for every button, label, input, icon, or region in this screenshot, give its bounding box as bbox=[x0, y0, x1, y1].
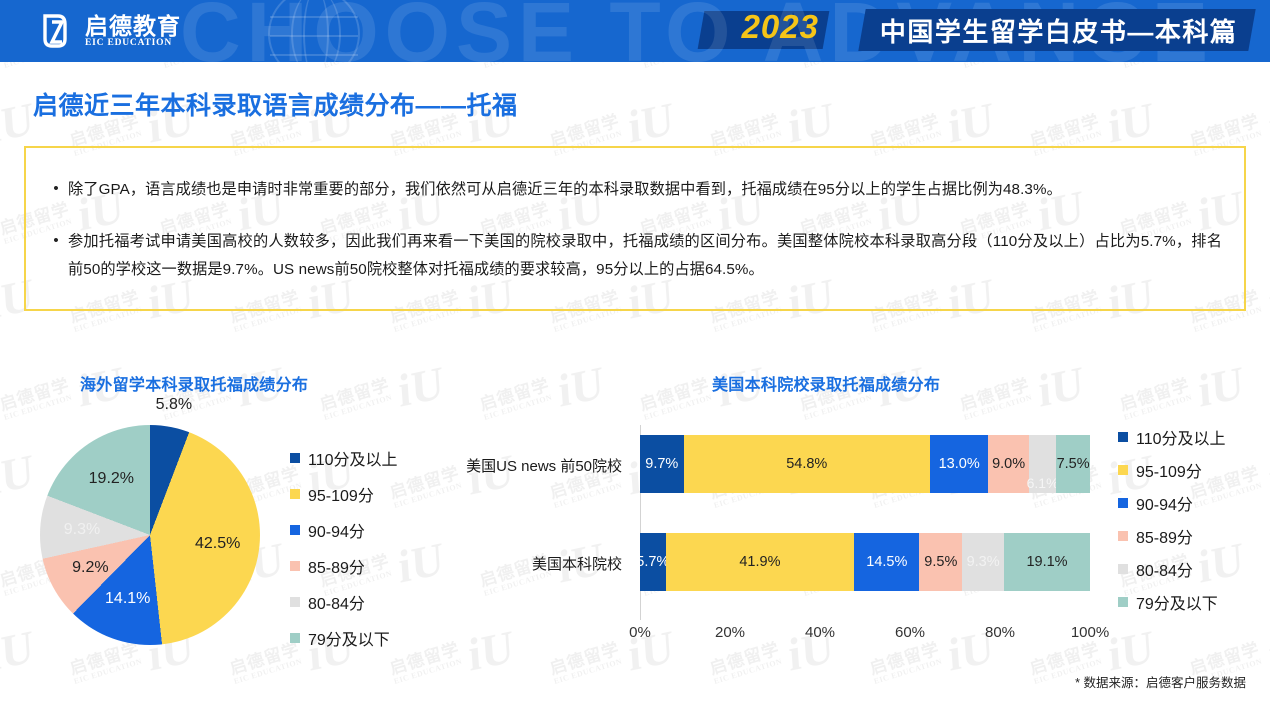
bar-segment[interactable]: 7.5% bbox=[1056, 435, 1090, 493]
legend-label: 80-84分 bbox=[308, 590, 365, 614]
x-axis-tick-label: 20% bbox=[715, 624, 745, 641]
watermark-logo-icon: iU bbox=[1197, 355, 1246, 418]
bullet-item: •参加托福考试申请美国高校的人数较多，因此我们再来看一下美国的院校录取中，托福成… bbox=[44, 228, 1222, 284]
bar-segment[interactable]: 6.1% bbox=[1029, 435, 1056, 493]
pie-slice-label: 9.3% bbox=[64, 521, 100, 539]
legend-label: 90-94分 bbox=[1136, 491, 1193, 515]
logo-text-cn: 启德教育 bbox=[85, 14, 181, 38]
brand-logo: 启德教育 EIC EDUCATION bbox=[38, 12, 181, 50]
page-title: 启德近三年本科录取语言成绩分布——托福 bbox=[33, 86, 518, 122]
watermark-logo-icon: iU bbox=[1037, 707, 1086, 712]
watermark-text: 启德留学EIC EDUCATION bbox=[68, 640, 145, 686]
legend-item[interactable]: 79分及以下 bbox=[1118, 585, 1226, 618]
bar-stack-row: 5.7%41.9%14.5%9.5%9.3%19.1% bbox=[640, 533, 1090, 591]
legend-swatch-icon bbox=[290, 489, 300, 499]
page-header: CHOOSE TO ADVANCE 启德教育 EIC EDUCATION 202… bbox=[0, 0, 1270, 62]
bar-segment-label: 9.5% bbox=[924, 554, 957, 570]
bar-segment[interactable]: 9.5% bbox=[919, 533, 962, 591]
watermark-logo-icon: iU bbox=[397, 707, 446, 712]
watermark-text: 启德留学EIC EDUCATION bbox=[958, 376, 1035, 422]
watermark-logo-icon: iU bbox=[0, 91, 35, 154]
watermark-text: 启德留学EIC EDUCATION bbox=[1118, 376, 1195, 422]
x-axis-tick-label: 60% bbox=[895, 624, 925, 641]
pie-slice-label: 5.8% bbox=[156, 396, 192, 414]
bar-chart-legend: 110分及以上95-109分90-94分85-89分80-84分79分及以下 bbox=[1118, 420, 1226, 618]
watermark-logo-icon: iU bbox=[0, 443, 35, 506]
bar-segment[interactable]: 9.3% bbox=[962, 533, 1004, 591]
source-note: * 数据来源：启德客户服务数据 bbox=[1075, 672, 1246, 691]
bullet-marker-icon: • bbox=[44, 228, 68, 284]
bar-chart-x-axis-labels: 0%20%40%60%80%100% bbox=[640, 624, 1090, 646]
bullet-marker-icon: • bbox=[44, 176, 68, 204]
bullet-text: 参加托福考试申请美国高校的人数较多，因此我们再来看一下美国的院校录取中，托福成绩… bbox=[68, 228, 1222, 284]
watermark-logo-icon: iU bbox=[1267, 443, 1270, 506]
header-year: 2023 bbox=[742, 8, 819, 46]
bar-segment-label: 41.9% bbox=[739, 554, 780, 570]
legend-item[interactable]: 110分及以上 bbox=[1118, 420, 1226, 453]
pie-chart-legend: 110分及以上95-109分90-94分85-89分80-84分79分及以下 bbox=[290, 440, 398, 656]
bar-segment[interactable]: 41.9% bbox=[666, 533, 855, 591]
legend-swatch-icon bbox=[290, 597, 300, 607]
watermark-logo-icon: iU bbox=[397, 355, 446, 418]
pie-slice-label: 19.2% bbox=[89, 470, 134, 488]
bar-segment[interactable]: 9.7% bbox=[640, 435, 684, 493]
x-axis-tick-label: 80% bbox=[985, 624, 1015, 641]
logo-text-en: EIC EDUCATION bbox=[85, 38, 181, 48]
watermark-logo-icon: iU bbox=[237, 707, 286, 712]
legend-label: 79分及以下 bbox=[1136, 590, 1218, 614]
bar-segment-label: 13.0% bbox=[939, 456, 980, 472]
pie-chart: 5.8%42.5%14.1%9.2%9.3%19.2% bbox=[40, 425, 260, 645]
bar-segment[interactable]: 19.1% bbox=[1004, 533, 1090, 591]
watermark-logo-icon: iU bbox=[947, 91, 996, 154]
bullet-item: •除了GPA，语言成绩也是申请时非常重要的部分，我们依然可从启德近三年的本科录取… bbox=[44, 176, 1222, 204]
bar-segment-label: 7.5% bbox=[1057, 456, 1090, 472]
bar-segment-label: 19.1% bbox=[1026, 554, 1067, 570]
callout-box: •除了GPA，语言成绩也是申请时非常重要的部分，我们依然可从启德近三年的本科录取… bbox=[24, 146, 1246, 311]
legend-swatch-icon bbox=[290, 525, 300, 535]
watermark-logo-icon: iU bbox=[397, 531, 446, 594]
slide-page: 启德留学EIC EDUCATIONiU启德留学EIC EDUCATIONiU启德… bbox=[0, 0, 1270, 712]
legend-swatch-icon bbox=[1118, 531, 1128, 541]
legend-item[interactable]: 79分及以下 bbox=[290, 620, 398, 656]
bar-segment-label: 54.8% bbox=[786, 456, 827, 472]
bar-segment-label: 9.0% bbox=[992, 456, 1025, 472]
header-title: 中国学生留学白皮书—本科篇 bbox=[880, 12, 1238, 49]
legend-swatch-icon bbox=[1118, 432, 1128, 442]
bar-segment[interactable]: 9.0% bbox=[988, 435, 1028, 493]
bar-segment-label: 9.3% bbox=[967, 554, 1000, 570]
watermark-logo-icon: iU bbox=[1267, 619, 1270, 682]
legend-label: 110分及以上 bbox=[308, 446, 398, 470]
bar-segment[interactable]: 14.5% bbox=[854, 533, 919, 591]
x-axis-tick-label: 40% bbox=[805, 624, 835, 641]
legend-item[interactable]: 95-109分 bbox=[1118, 453, 1226, 486]
pie-slice-label: 42.5% bbox=[195, 535, 240, 553]
watermark-logo-icon: iU bbox=[557, 707, 606, 712]
watermark-text: 启德留学EIC EDUCATION bbox=[388, 464, 465, 510]
watermark-logo-icon: iU bbox=[1197, 707, 1246, 712]
legend-item[interactable]: 95-109分 bbox=[290, 476, 398, 512]
watermark-logo-icon: iU bbox=[1267, 91, 1270, 154]
watermark-text: 启德留学EIC EDUCATION bbox=[0, 376, 74, 422]
legend-item[interactable]: 90-94分 bbox=[290, 512, 398, 548]
watermark-logo-icon: iU bbox=[787, 91, 836, 154]
legend-item[interactable]: 85-89分 bbox=[290, 548, 398, 584]
legend-label: 85-89分 bbox=[1136, 524, 1193, 548]
legend-swatch-icon bbox=[290, 633, 300, 643]
legend-label: 90-94分 bbox=[308, 518, 365, 542]
watermark-logo-icon: iU bbox=[1267, 267, 1270, 330]
legend-label: 95-109分 bbox=[308, 482, 374, 506]
bar-segment[interactable]: 13.0% bbox=[930, 435, 988, 493]
watermark-logo-icon: iU bbox=[1107, 91, 1156, 154]
bar-segment-label: 14.5% bbox=[866, 554, 907, 570]
pie-slice-label: 14.1% bbox=[105, 590, 150, 608]
header-title-bar: 中国学生留学白皮书—本科篇 bbox=[859, 9, 1256, 51]
pie-chart-title: 海外留学本科录取托福成绩分布 bbox=[80, 371, 308, 395]
globe-icon bbox=[268, 0, 360, 62]
legend-item[interactable]: 85-89分 bbox=[1118, 519, 1226, 552]
bar-chart-plot: 9.7%54.8%13.0%9.0%6.1%7.5%5.7%41.9%14.5%… bbox=[640, 425, 1090, 620]
legend-swatch-icon bbox=[1118, 564, 1128, 574]
legend-swatch-icon bbox=[1118, 597, 1128, 607]
x-axis-tick-label: 0% bbox=[629, 624, 651, 641]
watermark-text: 启德留学EIC EDUCATION bbox=[638, 376, 715, 422]
legend-swatch-icon bbox=[290, 561, 300, 571]
bar-category-label: 美国US news 前50院校 bbox=[466, 455, 622, 476]
legend-item[interactable]: 110分及以上 bbox=[290, 440, 398, 476]
pie-slice-label: 9.2% bbox=[72, 559, 108, 577]
legend-label: 85-89分 bbox=[308, 554, 365, 578]
watermark-text: 启德留学EIC EDUCATION bbox=[548, 640, 625, 686]
legend-item[interactable]: 80-84分 bbox=[1118, 552, 1226, 585]
bar-segment[interactable]: 54.8% bbox=[684, 435, 930, 493]
watermark-logo-icon: iU bbox=[877, 707, 926, 712]
bar-stack-row: 9.7%54.8%13.0%9.0%6.1%7.5% bbox=[640, 435, 1090, 493]
watermark-text: 启德留学EIC EDUCATION bbox=[708, 640, 785, 686]
legend-swatch-icon bbox=[290, 453, 300, 463]
watermark-logo-icon: iU bbox=[717, 707, 766, 712]
watermark-text: 启德留学EIC EDUCATION bbox=[388, 640, 465, 686]
legend-label: 80-84分 bbox=[1136, 557, 1193, 581]
watermark-logo-icon: iU bbox=[77, 707, 126, 712]
legend-label: 79分及以下 bbox=[308, 626, 390, 650]
watermark-text: 启德留学EIC EDUCATION bbox=[868, 640, 945, 686]
watermark-logo-icon: iU bbox=[1037, 355, 1086, 418]
logo-mark-icon bbox=[38, 12, 76, 50]
pie-graphic: 5.8%42.5%14.1%9.2%9.3%19.2% bbox=[40, 425, 260, 645]
watermark-logo-icon: iU bbox=[467, 619, 516, 682]
legend-item[interactable]: 90-94分 bbox=[1118, 486, 1226, 519]
bar-chart-title: 美国本科院校录取托福成绩分布 bbox=[712, 371, 940, 395]
legend-label: 110分及以上 bbox=[1136, 425, 1226, 449]
watermark-logo-icon: iU bbox=[0, 619, 35, 682]
watermark-logo-icon: iU bbox=[557, 355, 606, 418]
bar-segment[interactable]: 5.7% bbox=[640, 533, 666, 591]
legend-swatch-icon bbox=[1118, 498, 1128, 508]
x-axis-tick-label: 100% bbox=[1071, 624, 1109, 641]
bullet-text: 除了GPA，语言成绩也是申请时非常重要的部分，我们依然可从启德近三年的本科录取数… bbox=[68, 176, 1222, 204]
bar-segment-label: 9.7% bbox=[645, 456, 678, 472]
legend-swatch-icon bbox=[1118, 465, 1128, 475]
bullet-list: •除了GPA，语言成绩也是申请时非常重要的部分，我们依然可从启德近三年的本科录取… bbox=[26, 148, 1244, 284]
legend-label: 95-109分 bbox=[1136, 458, 1202, 482]
legend-item[interactable]: 80-84分 bbox=[290, 584, 398, 620]
watermark-logo-icon: iU bbox=[627, 91, 676, 154]
bar-category-label: 美国本科院校 bbox=[532, 553, 622, 574]
bar-segment-label: 6.1% bbox=[1027, 475, 1059, 491]
bar-segment-label: 5.7% bbox=[636, 554, 669, 570]
watermark-text: 启德留学EIC EDUCATION bbox=[478, 376, 555, 422]
watermark-text: 启德留学EIC EDUCATION bbox=[318, 376, 395, 422]
